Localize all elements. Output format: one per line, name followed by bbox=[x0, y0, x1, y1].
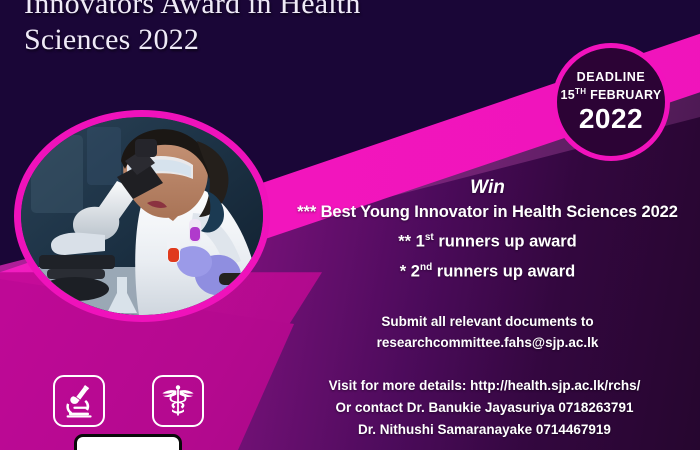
microscope-icon bbox=[62, 384, 96, 418]
submission-email[interactable]: researchcommittee.fahs@sjp.ac.lk bbox=[280, 332, 695, 353]
deadline-date: 15TH FEBRUARY bbox=[561, 87, 662, 102]
contact-person-2: Dr. Nithushi Samaranayake 0714467919 bbox=[272, 419, 697, 441]
deadline-year: 2022 bbox=[579, 104, 643, 134]
submission-instruction: Submit all relevant documents to bbox=[280, 311, 695, 332]
contact-person-1: Or contact Dr. Banukie Jayasuriya 071826… bbox=[272, 397, 697, 419]
page-title-line-1: Innovators Award in Health bbox=[24, 0, 361, 20]
deadline-month: FEBRUARY bbox=[590, 89, 661, 103]
prize-item-2-rest: runners up award bbox=[434, 233, 577, 251]
page-title-line-2: Sciences 2022 bbox=[24, 22, 454, 58]
prize-item-2-ordinal: st bbox=[425, 232, 434, 243]
deadline-ordinal: TH bbox=[575, 87, 586, 96]
scientist-microscope-illustration bbox=[21, 117, 263, 315]
prize-item-3-rest: runners up award bbox=[432, 262, 575, 280]
prize-list: Win *** Best Young Innovator in Health S… bbox=[280, 176, 695, 284]
prize-item-3: * 2nd runners up award bbox=[280, 255, 695, 285]
deadline-badge: DEADLINE 15TH FEBRUARY 2022 bbox=[552, 43, 670, 161]
scientist-photo bbox=[14, 110, 270, 322]
prize-item-1: *** Best Young Innovator in Health Scien… bbox=[280, 200, 695, 225]
bottom-logo-plate bbox=[74, 434, 182, 450]
prize-item-3-prefix: * 2 bbox=[400, 262, 420, 280]
microscope-icon-box bbox=[53, 375, 105, 427]
photo-image bbox=[21, 117, 263, 315]
page-title: Innovators Award in Health Sciences 2022 bbox=[24, 0, 454, 58]
deadline-day: 15 bbox=[561, 89, 576, 103]
contact-info: Visit for more details: http://health.sj… bbox=[272, 375, 697, 441]
prize-item-3-ordinal: nd bbox=[420, 262, 432, 273]
submission-info: Submit all relevant documents to researc… bbox=[280, 311, 695, 353]
caduceus-icon bbox=[161, 384, 195, 418]
poster-canvas: Innovators Award in Health Sciences 2022… bbox=[0, 0, 700, 450]
prize-item-2-prefix: ** 1 bbox=[398, 233, 425, 251]
deadline-label: DEADLINE bbox=[577, 70, 646, 84]
win-heading: Win bbox=[280, 176, 695, 200]
photo-ring-border bbox=[14, 110, 270, 322]
website-link[interactable]: Visit for more details: http://health.sj… bbox=[272, 375, 697, 397]
caduceus-icon-box bbox=[152, 375, 204, 427]
prize-item-2: ** 1st runners up award bbox=[280, 225, 695, 255]
